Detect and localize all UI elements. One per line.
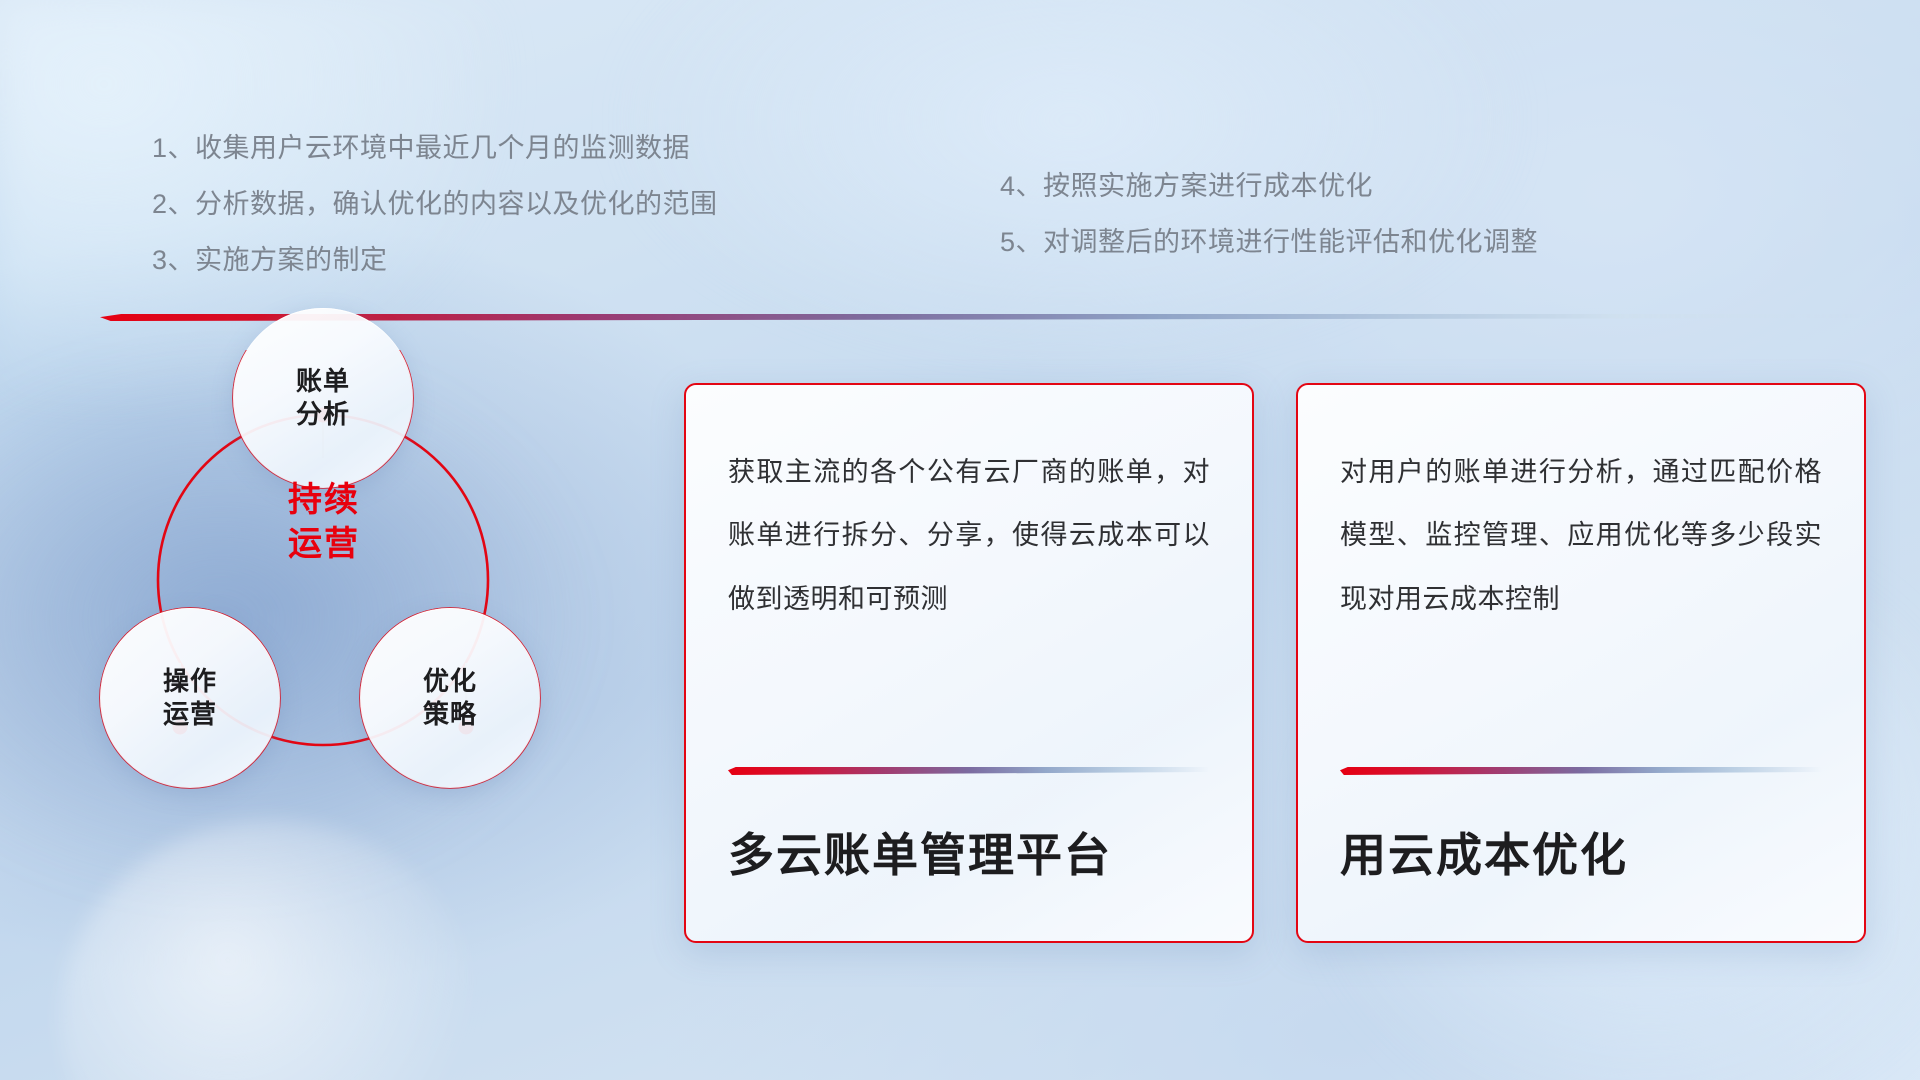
step-item-4: 4、按照实施方案进行成本优化 [1000,158,1538,214]
cycle-node-optimization-strategy-line2: 策略 [423,698,477,731]
step-item-3: 3、实施方案的制定 [152,232,718,288]
card-multicloud-billing-platform[interactable]: 获取主流的各个公有云厂商的账单，对账单进行拆分、分享，使得云成本可以做到透明和可… [684,383,1254,943]
step-list-right-column: 4、按照实施方案进行成本优化 5、对调整后的环境进行性能评估和优化调整 [1000,158,1538,270]
card-1-body: 获取主流的各个公有云厂商的账单，对账单进行拆分、分享，使得云成本可以做到透明和可… [728,441,1210,631]
step-item-2: 2、分析数据，确认优化的内容以及优化的范围 [152,176,718,232]
card-1-divider [728,767,1210,775]
cycle-node-operations-line2: 运营 [163,698,217,731]
cycle-center-label-line1: 持续 [240,478,408,522]
cycle-node-operations[interactable]: 操作 运营 [100,608,280,788]
cycle-node-optimization-strategy-line1: 优化 [423,665,477,698]
card-2-divider [1340,767,1822,775]
cycle-node-billing-analysis-line2: 分析 [296,398,350,431]
card-2-title: 用云成本优化 [1340,775,1822,941]
card-2-body: 对用户的账单进行分析，通过匹配价格模型、监控管理、应用优化等多少段实现对用云成本… [1340,441,1822,631]
step-item-1: 1、收集用户云环境中最近几个月的监测数据 [152,120,718,176]
cycle-node-billing-analysis[interactable]: 账单 分析 [233,308,413,488]
step-list-left-column: 1、收集用户云环境中最近几个月的监测数据 2、分析数据，确认优化的内容以及优化的… [152,120,718,288]
cycle-center-label-line2: 运营 [240,522,408,566]
cycle-node-operations-line1: 操作 [163,665,217,698]
step-item-5: 5、对调整后的环境进行性能评估和优化调整 [1000,214,1538,270]
card-1-title: 多云账单管理平台 [728,775,1210,941]
step-list: 1、收集用户云环境中最近几个月的监测数据 2、分析数据，确认优化的内容以及优化的… [0,0,1920,300]
cycle-diagram: 账单 分析 操作 运营 优化 策略 持续 运营 [88,350,648,950]
cycle-node-optimization-strategy[interactable]: 优化 策略 [360,608,540,788]
cycle-center-label: 持续 运营 [240,478,408,566]
cycle-node-billing-analysis-line1: 账单 [296,365,350,398]
card-cloud-cost-optimization[interactable]: 对用户的账单进行分析，通过匹配价格模型、监控管理、应用优化等多少段实现对用云成本… [1296,383,1866,943]
